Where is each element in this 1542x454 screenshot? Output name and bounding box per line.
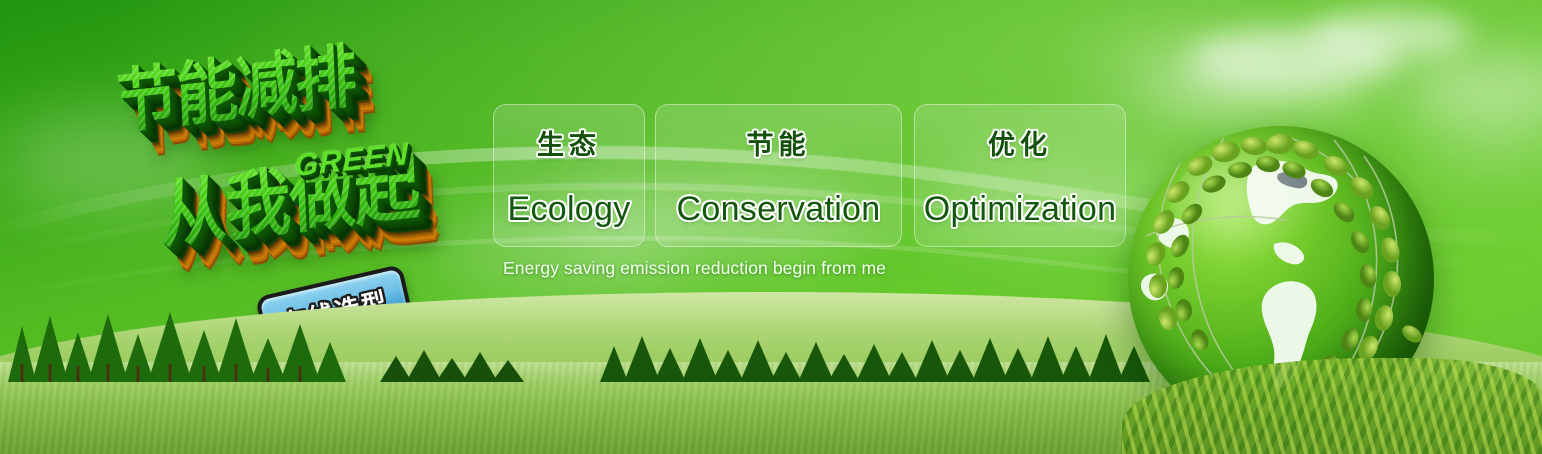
banner-tagline: Energy saving emission reduction begin f… bbox=[503, 258, 886, 279]
feature-card-conservation-en: Conservation bbox=[677, 190, 881, 229]
feature-card-conservation[interactable]: 节能 Conservation bbox=[655, 104, 902, 247]
eco-promo-banner: 节能减排 节能减排 从我做起 从我做起 GREEN 在线选型 生态 Ecolog… bbox=[0, 0, 1542, 454]
feature-card-ecology-en: Ecology bbox=[507, 190, 630, 229]
feature-card-conservation-cn: 节能 bbox=[747, 123, 811, 162]
feature-card-ecology-cn: 生态 bbox=[537, 123, 601, 162]
feature-card-optimization[interactable]: 优化 Optimization bbox=[914, 104, 1126, 247]
feature-card-optimization-cn: 优化 bbox=[988, 123, 1052, 162]
feature-card-ecology[interactable]: 生态 Ecology bbox=[493, 104, 645, 247]
feature-card-optimization-en: Optimization bbox=[924, 190, 1117, 229]
